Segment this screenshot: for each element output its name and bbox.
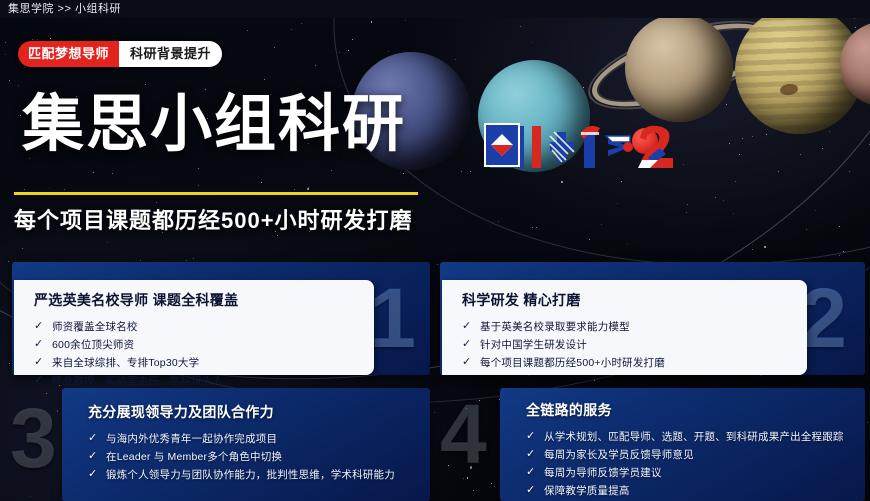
list-item: ✓针对中国学生研发设计 [462, 337, 665, 352]
card-1-bullet-2: 600余位顶尖师资 [52, 337, 134, 352]
planet-saturn-icon [625, 14, 733, 122]
check-icon: ✓ [88, 431, 101, 446]
card-3-bullet-3: 锻炼个人领导力与团队协作能力，批判性思维，学术科研能力 [106, 467, 395, 482]
check-icon: ✓ [34, 355, 47, 370]
title-divider [14, 192, 418, 195]
check-icon: ✓ [526, 447, 539, 462]
logo-one-plus-one-greater-than-two-icon [480, 118, 680, 180]
card-3-bullet-list: ✓与海内外优秀青年一起协作完成项目 ✓在Leader 与 Member多个角色中… [88, 431, 395, 482]
feature-card-2: 2 科学研发 精心打磨 ✓基于英美名校录取要求能力模型 ✓针对中国学生研发设计 … [440, 262, 865, 375]
page-subtitle: 每个项目课题都历经500+小时研发打磨 [14, 203, 413, 235]
list-item: ✓每周为导师反馈学员建议 [526, 465, 844, 480]
list-item: ✓在Leader 与 Member多个角色中切换 [88, 449, 395, 464]
card-4-bullet-3: 每周为导师反馈学员建议 [544, 465, 662, 480]
list-item: ✓锻炼个人领导力与团队协作能力，批判性思维，学术科研能力 [88, 467, 395, 482]
badge-primary-label: 匹配梦想导师 [18, 41, 119, 67]
check-icon: ✓ [34, 319, 47, 334]
feature-card-1: 1 严选英美名校导师 课题全科覆盖 ✓师资覆盖全球名校 ✓600余位顶尖师资 ✓… [12, 262, 430, 375]
breadcrumb[interactable]: 集思学院 >> 小组科研 [0, 0, 870, 18]
list-item: ✓600余位顶尖师资 [34, 337, 238, 352]
card-1-bullet-1: 师资覆盖全球名校 [52, 319, 138, 334]
card-4-bullet-2: 每周为家长及学员反馈导师意见 [544, 447, 694, 462]
card-1-number: 1 [369, 276, 416, 360]
check-icon: ✓ [462, 337, 475, 352]
card-2-bullet-list: ✓基于英美名校录取要求能力模型 ✓针对中国学生研发设计 ✓每个项目课题都历经50… [462, 319, 665, 370]
check-icon: ✓ [88, 449, 101, 464]
list-item: ✓每个项目课题都历经500+小时研发打磨 [462, 355, 665, 370]
feature-card-3: 充分展现领导力及团队合作力 ✓与海内外优秀青年一起协作完成项目 ✓在Leader… [62, 388, 430, 501]
list-item: ✓从学术规划、匹配导师、选题、开题、到科研成果产出全程跟踪 [526, 429, 844, 444]
card-4-bullet-1: 从学术规划、匹配导师、选题、开题、到科研成果产出全程跟踪 [544, 429, 844, 444]
check-icon: ✓ [34, 337, 47, 352]
list-item: ✓每周为家长及学员反馈导师意见 [526, 447, 844, 462]
card-3-bullet-1: 与海内外优秀青年一起协作完成项目 [106, 431, 277, 446]
check-icon: ✓ [462, 319, 475, 334]
card-4-bullet-4: 保障教学质量提高 [544, 483, 630, 498]
feature-card-4: 全链路的服务 ✓从学术规划、匹配导师、选题、开题、到科研成果产出全程跟踪 ✓每周… [500, 388, 865, 501]
card-2-bullet-3: 每个项目课题都历经500+小时研发打磨 [480, 355, 665, 370]
card-2-bullet-2: 针对中国学生研发设计 [480, 337, 587, 352]
card-2-content: 科学研发 精心打磨 ✓基于英美名校录取要求能力模型 ✓针对中国学生研发设计 ✓每… [462, 290, 665, 373]
card-1-bullet-4: 终身教授、实验室主任、学科带头人 [52, 373, 223, 388]
list-item: ✓师资覆盖全球名校 [34, 319, 238, 334]
check-icon: ✓ [526, 429, 539, 444]
list-item: ✓终身教授、实验室主任、学科带头人 [34, 373, 238, 388]
list-item: ✓保障教学质量提高 [526, 483, 844, 498]
list-item: ✓与海内外优秀青年一起协作完成项目 [88, 431, 395, 446]
card-1-bullet-list: ✓师资覆盖全球名校 ✓600余位顶尖师资 ✓来自全球综排、专排Top30大学 ✓… [34, 319, 238, 388]
page-title: 集思小组科研 [22, 94, 406, 156]
card-4-bullet-list: ✓从学术规划、匹配导师、选题、开题、到科研成果产出全程跟踪 ✓每周为家长及学员反… [526, 429, 844, 498]
card-2-title: 科学研发 精心打磨 [462, 290, 665, 310]
card-1-content: 严选英美名校导师 课题全科覆盖 ✓师资覆盖全球名校 ✓600余位顶尖师资 ✓来自… [34, 290, 238, 391]
card-3-bullet-2: 在Leader 与 Member多个角色中切换 [106, 449, 282, 464]
card-1-title: 严选英美名校导师 课题全科覆盖 [34, 290, 238, 310]
card-4-title: 全链路的服务 [526, 400, 844, 420]
card-3-number: 3 [10, 396, 57, 480]
check-icon: ✓ [34, 373, 47, 388]
card-4-content: 全链路的服务 ✓从学术规划、匹配导师、选题、开题、到科研成果产出全程跟踪 ✓每周… [526, 400, 844, 501]
card-3-content: 充分展现领导力及团队合作力 ✓与海内外优秀青年一起协作完成项目 ✓在Leader… [88, 402, 395, 485]
promo-badge: 匹配梦想导师 科研背景提升 [18, 41, 222, 67]
list-item: ✓来自全球综排、专排Top30大学 [34, 355, 238, 370]
card-2-number: 2 [800, 276, 847, 360]
card-1-bullet-3: 来自全球综排、专排Top30大学 [52, 355, 199, 370]
card-3-title: 充分展现领导力及团队合作力 [88, 402, 395, 422]
list-item: ✓基于英美名校录取要求能力模型 [462, 319, 665, 334]
check-icon: ✓ [526, 483, 539, 498]
check-icon: ✓ [526, 465, 539, 480]
badge-secondary-label: 科研背景提升 [119, 41, 222, 67]
check-icon: ✓ [88, 467, 101, 482]
card-2-bullet-1: 基于英美名校录取要求能力模型 [480, 319, 630, 334]
check-icon: ✓ [462, 355, 475, 370]
card-4-number: 4 [440, 392, 487, 476]
